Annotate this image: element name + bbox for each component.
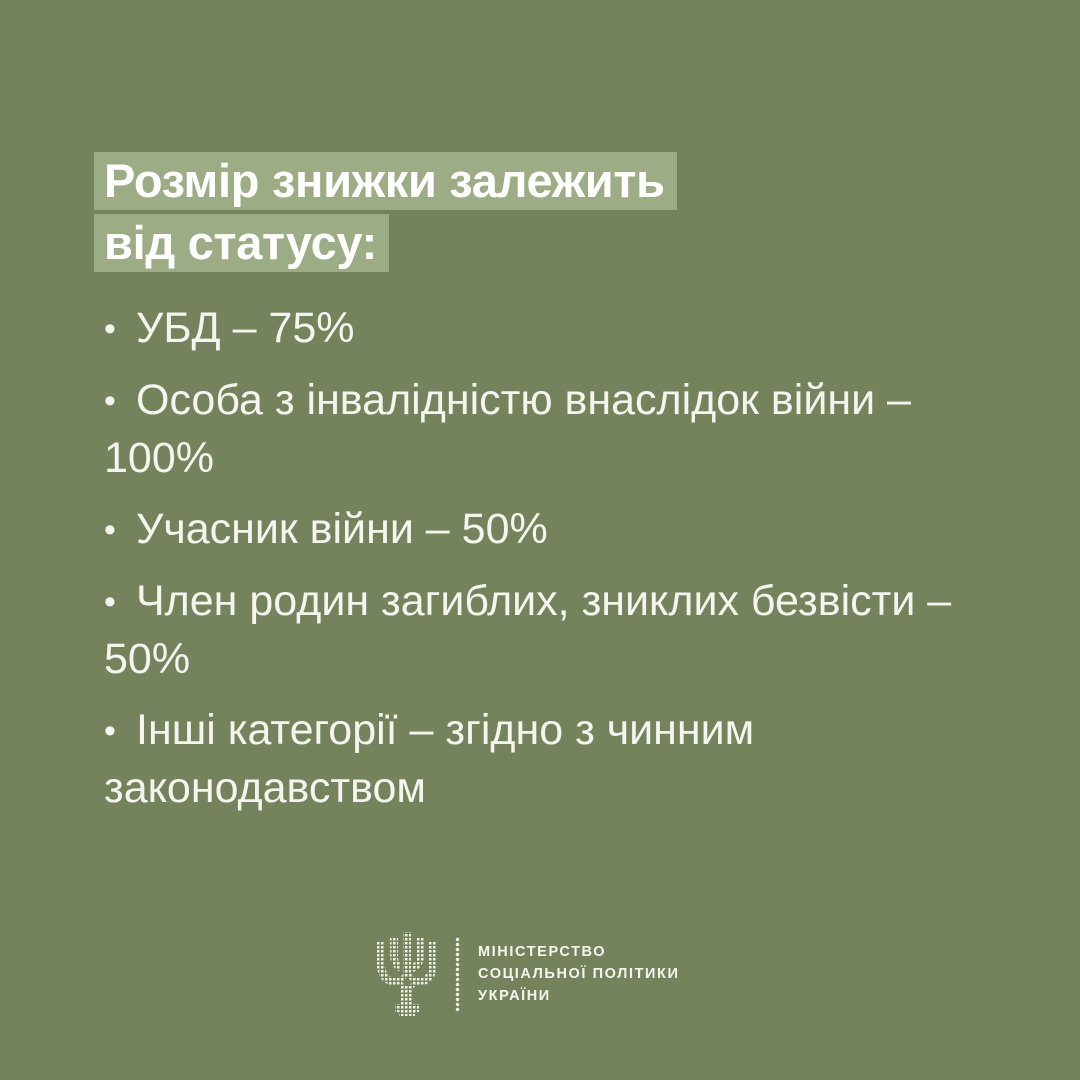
ministry-line-3: УКРАЇНИ	[478, 985, 680, 1007]
discount-list: •УБД – 75% •Особа з інвалідністю внаслід…	[104, 300, 964, 831]
title-line-2: від статусу:	[94, 214, 389, 272]
ministry-line-2: СОЦІАЛЬНОЇ ПОЛІТИКИ	[478, 963, 680, 985]
list-item-label: УБД – 75%	[136, 304, 355, 352]
list-item: •Інші категорії – згідно з чинним законо…	[104, 702, 964, 817]
list-item: •Член родин загиблих, зниклих безвісти –…	[104, 573, 964, 688]
ministry-line-1: МІНІСТЕРСТВО	[478, 941, 680, 963]
poster-canvas: Розмір знижки залежить від статусу: •УБД…	[0, 0, 1080, 1080]
page-title: Розмір знижки залежить від статусу:	[94, 152, 994, 272]
title-line-1: Розмір знижки залежить	[94, 152, 677, 210]
logo-divider	[455, 937, 460, 1011]
ukrainian-trident-icon	[373, 930, 441, 1018]
bullet-icon: •	[104, 301, 136, 358]
list-item-label: Особа з інвалідністю внаслідок війни – 1…	[104, 376, 911, 482]
list-item: •Особа з інвалідністю внаслідок війни – …	[104, 372, 964, 487]
list-item-label: Учасник війни – 50%	[136, 505, 548, 553]
bullet-icon: •	[104, 574, 136, 631]
bullet-icon: •	[104, 373, 136, 430]
bullet-icon: •	[104, 502, 136, 559]
bullet-icon: •	[104, 703, 136, 760]
list-item-label: Член родин загиблих, зниклих безвісти – …	[104, 577, 951, 683]
ministry-name: МІНІСТЕРСТВО СОЦІАЛЬНОЇ ПОЛІТИКИ УКРАЇНИ	[478, 941, 680, 1007]
list-item-label: Інші категорії – згідно з чинним законод…	[104, 706, 754, 812]
list-item: •Учасник війни – 50%	[104, 501, 964, 559]
list-item: •УБД – 75%	[104, 300, 964, 358]
ministry-logo: МІНІСТЕРСТВО СОЦІАЛЬНОЇ ПОЛІТИКИ УКРАЇНИ	[373, 930, 680, 1018]
